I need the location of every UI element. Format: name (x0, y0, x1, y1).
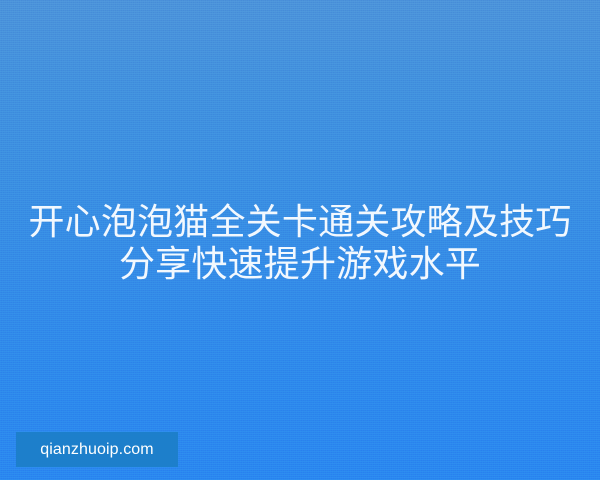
page-title: 开心泡泡猫全关卡通关攻略及技巧分享快速提升游戏水平 (24, 202, 576, 286)
watermark-label: qianzhuoip.com (40, 442, 153, 458)
title-container: 开心泡泡猫全关卡通关攻略及技巧分享快速提升游戏水平 (0, 0, 600, 480)
banner-cover-image: 开心泡泡猫全关卡通关攻略及技巧分享快速提升游戏水平 qianzhuoip.com (0, 0, 600, 480)
watermark-badge: qianzhuoip.com (16, 432, 178, 467)
